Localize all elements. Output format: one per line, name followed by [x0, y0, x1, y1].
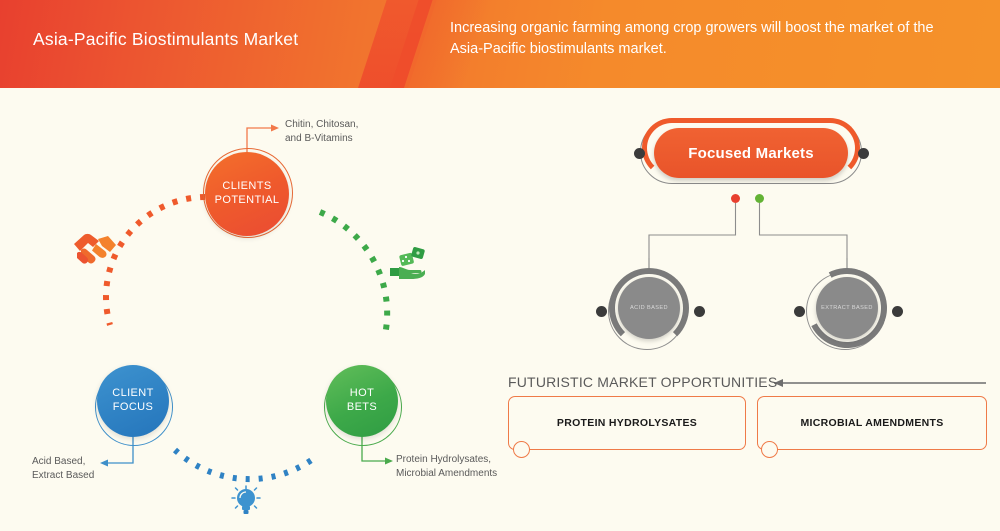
clients-potential-bubble[interactable]: CLIENTS POTENTIAL	[205, 152, 289, 236]
acid-based-core: ACID BASED	[618, 277, 680, 339]
extract-based-core: EXTRACT BASED	[816, 277, 878, 339]
microbial-amendments-box[interactable]: MICROBIAL AMENDMENTS	[757, 396, 987, 450]
protein-hydrolysates-box[interactable]: PROTEIN HYDROLYSATES	[508, 396, 746, 450]
header-subtitle: Increasing organic farming among crop gr…	[450, 18, 960, 60]
extract-based-right-dot	[892, 306, 903, 317]
header-banner: Asia-Pacific Biostimulants Market Increa…	[0, 0, 1000, 88]
focused-markets-group: Focused Markets	[636, 112, 866, 196]
clients-potential-callout: Chitin, Chitosan, and B-Vitamins	[285, 118, 395, 145]
hot-bets-bubble[interactable]: HOT BETS	[326, 365, 398, 437]
microbial-amendments-label: MICROBIAL AMENDMENTS	[800, 417, 943, 429]
focused-markets-left-dot	[634, 148, 645, 159]
hot-bets-label: HOT BETS	[347, 387, 377, 415]
red-connector-dot	[731, 194, 740, 203]
client-focus-label: CLIENT FOCUS	[112, 387, 154, 415]
tree-connectors	[649, 203, 847, 268]
protein-hydrolysates-marker	[513, 441, 530, 458]
green-connector-dot	[755, 194, 764, 203]
lightbulb-icon	[232, 486, 260, 514]
extract-based-label: EXTRACT BASED	[821, 305, 873, 311]
extract-based-left-dot	[794, 306, 805, 317]
focused-markets-label: Focused Markets	[688, 145, 814, 162]
infographic-page: Asia-Pacific Biostimulants Market Increa…	[0, 0, 1000, 531]
hand-money-icon	[390, 247, 425, 279]
futuristic-opportunities-title: FUTURISTIC MARKET OPPORTUNITIES	[508, 374, 777, 390]
focused-markets-right-dot	[858, 148, 869, 159]
acid-based-node[interactable]: ACID BASED	[608, 268, 690, 350]
extract-based-node[interactable]: EXTRACT BASED	[806, 268, 888, 350]
clients-potential-label: CLIENTS POTENTIAL	[215, 180, 280, 208]
acid-based-left-dot	[596, 306, 607, 317]
dotted-arc-green	[320, 212, 387, 335]
dotted-arc-blue	[175, 450, 317, 479]
handshake-icon	[74, 234, 116, 264]
acid-based-right-dot	[694, 306, 705, 317]
client-focus-callout: Acid Based, Extract Based	[32, 455, 122, 482]
futuristic-arrow	[774, 379, 986, 387]
protein-hydrolysates-label: PROTEIN HYDROLYSATES	[557, 417, 697, 429]
client-focus-bubble[interactable]: CLIENT FOCUS	[97, 365, 169, 437]
page-title: Asia-Pacific Biostimulants Market	[33, 29, 298, 50]
acid-based-label: ACID BASED	[630, 305, 668, 311]
hot-bets-callout: Protein Hydrolysates, Microbial Amendmen…	[396, 453, 526, 480]
focused-markets-button[interactable]: Focused Markets	[654, 128, 848, 178]
dotted-arc-orange	[106, 197, 205, 325]
microbial-amendments-marker	[761, 441, 778, 458]
